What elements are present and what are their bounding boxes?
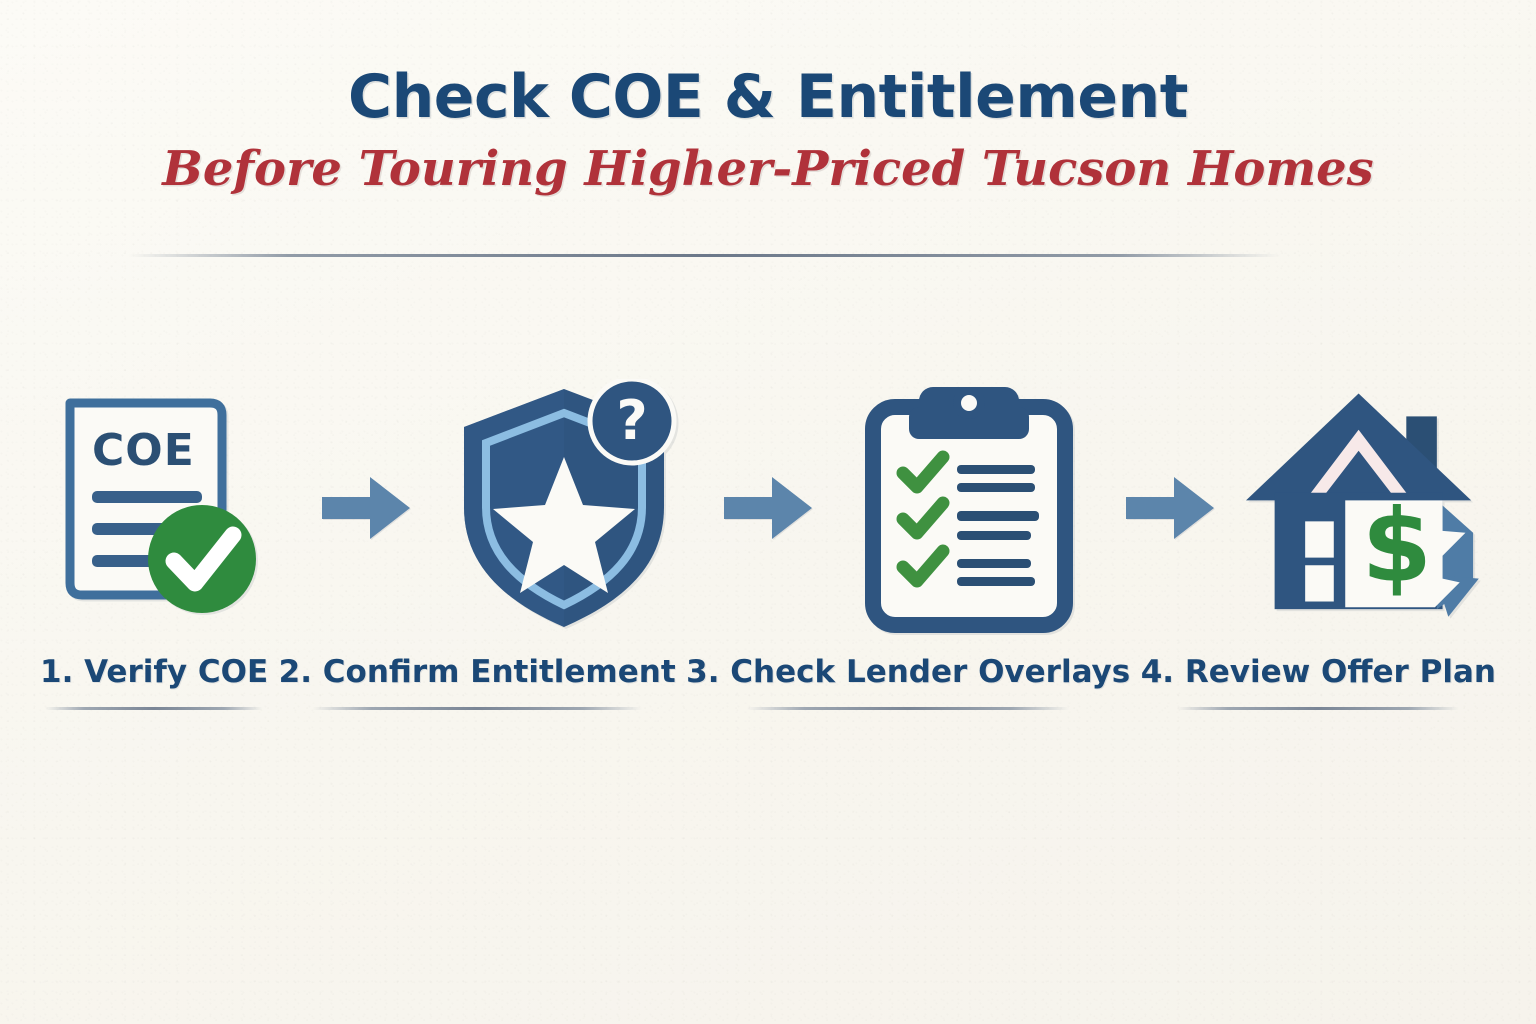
step-3-label: 3. Check Lender Overlays	[686, 655, 1130, 691]
step-3-label-col: 3. Check Lender Overlays	[686, 655, 1130, 710]
dollar-glyph: $	[1362, 487, 1432, 605]
arrow-3-to-4	[1116, 453, 1224, 563]
svg-text:COE: COE	[92, 425, 195, 476]
shield-star-question-icon: ?	[452, 379, 682, 637]
question-badge-glyph: ?	[616, 389, 647, 452]
step-1-icon-cell: COE	[40, 378, 290, 638]
process-flow-row: COE	[40, 378, 1496, 638]
step-1-underline	[45, 707, 263, 710]
arrow-2-to-3	[714, 453, 822, 563]
header-divider	[128, 254, 1280, 257]
step-2-label: 2. Confirm Entitlement	[279, 655, 676, 691]
step-1-label-col: 1. Verify COE	[40, 655, 268, 710]
step-labels-row: 1. Verify COE 2. Confirm Entitlement 3. …	[40, 655, 1496, 710]
clipboard-checklist-icon	[861, 381, 1077, 635]
house-dollar-document-icon: $	[1246, 382, 1496, 634]
page-subtitle: Before Touring Higher-Priced Tucson Home…	[0, 144, 1536, 196]
step-1-label: 1. Verify COE	[40, 655, 268, 691]
arrow-right-icon	[320, 471, 412, 545]
step-2-icon-cell: ?	[442, 378, 692, 638]
step-2-label-col: 2. Confirm Entitlement	[279, 655, 676, 710]
arrow-right-icon	[1124, 471, 1216, 545]
step-3-underline	[747, 707, 1069, 710]
step-3-icon-cell	[844, 378, 1094, 638]
step-4-label: 4. Review Offer Plan	[1141, 655, 1496, 691]
step-4-label-col: 4. Review Offer Plan	[1141, 655, 1496, 710]
step-2-underline	[312, 707, 642, 710]
step-4-underline	[1177, 707, 1459, 710]
infographic-canvas: Check COE & Entitlement Before Touring H…	[0, 0, 1536, 1024]
page-title: Check COE & Entitlement	[0, 66, 1536, 130]
header-block: Check COE & Entitlement Before Touring H…	[0, 66, 1536, 195]
arrow-1-to-2	[312, 453, 420, 563]
coe-document-check-icon: COE	[50, 383, 280, 633]
arrow-right-icon	[722, 471, 814, 545]
step-4-icon-cell: $	[1246, 378, 1496, 638]
